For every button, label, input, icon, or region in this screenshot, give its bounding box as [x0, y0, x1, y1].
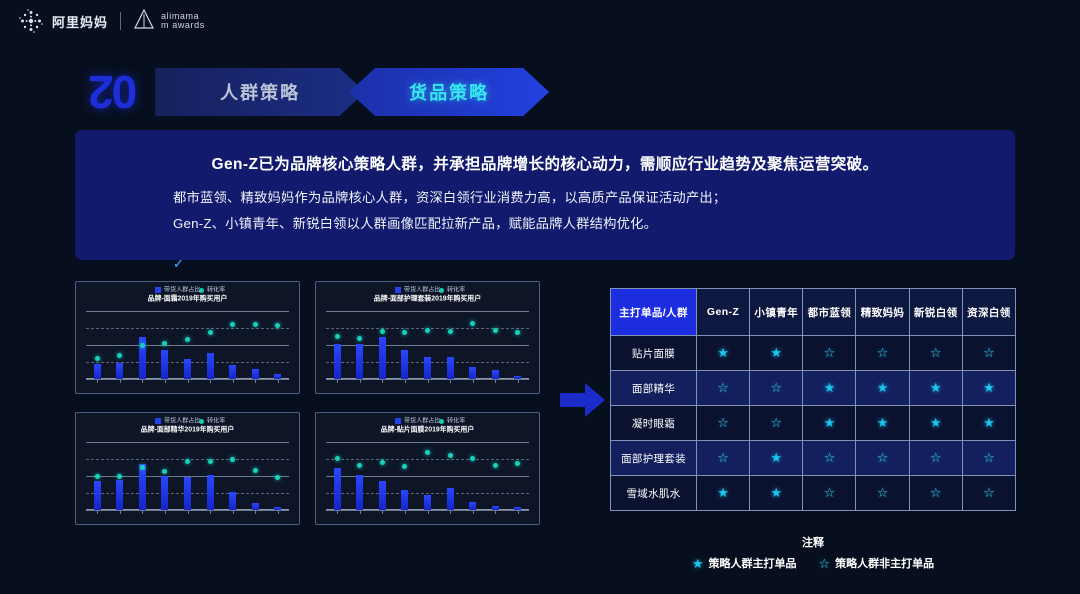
- table-row-label: 贴片面膜: [611, 336, 697, 371]
- chart-dot: [335, 334, 340, 339]
- table-cell: ★: [856, 371, 909, 406]
- star-filled-icon: ★: [877, 416, 889, 429]
- chart-dot: [380, 460, 385, 465]
- star-filled-icon: ★: [770, 486, 782, 499]
- chart-bar: [447, 357, 454, 379]
- star-outline-icon: ☆: [819, 557, 831, 570]
- chart-x-tick: [495, 510, 496, 514]
- chart-x-tick: [120, 510, 121, 514]
- chart-x-tick: [188, 510, 189, 514]
- table-column-header: 精致妈妈: [856, 289, 909, 336]
- table-cell: ★: [909, 371, 962, 406]
- table-cell: ☆: [856, 441, 909, 476]
- chart-x-tick: [360, 379, 361, 383]
- table-cell: ☆: [856, 476, 909, 511]
- table-cell: ☆: [962, 476, 1015, 511]
- tab-product-strategy-label: 货品策略: [409, 79, 489, 105]
- chart-x-tick: [233, 510, 234, 514]
- chart-dot: [402, 464, 407, 469]
- legend-empty-star-label: 策略人群非主打单品: [835, 555, 934, 571]
- chart-bar: [424, 357, 431, 379]
- table-column-header: 都市蓝领: [803, 289, 856, 336]
- chart-dot: [185, 337, 190, 342]
- chart-x-tick: [382, 379, 383, 383]
- chart-bar: [184, 359, 191, 379]
- chart-bar: [184, 477, 191, 510]
- chart-bar: [379, 481, 386, 510]
- table-row-label: 面部护理套装: [611, 441, 697, 476]
- table-cell: ☆: [909, 441, 962, 476]
- legend-empty-star: ☆ 策略人群非主打单品: [819, 555, 935, 571]
- chart-x-tick: [360, 510, 361, 514]
- chart-dot: [425, 450, 430, 455]
- chart-x-tick: [428, 510, 429, 514]
- star-filled-icon: ★: [692, 557, 704, 570]
- chart-x-tick: [188, 379, 189, 383]
- table-cell: ★: [750, 336, 803, 371]
- product-audience-matrix: 主打单品/人群Gen-Z小镇青年都市蓝领精致妈妈新锐白领资深白领 贴片面膜★★☆…: [610, 288, 1016, 511]
- legend-full-star: ★ 策略人群主打单品: [692, 555, 797, 571]
- chart-bar: [401, 350, 408, 379]
- chart-dot: [493, 463, 498, 468]
- chart-gridline: [86, 345, 289, 346]
- chart-dot: [402, 330, 407, 335]
- chart-legend: 带货人群占比转化率: [316, 287, 539, 293]
- legend-dot-label: 转化率: [207, 286, 225, 295]
- star-filled-icon: ★: [983, 416, 995, 429]
- legend-bar-swatch-icon: [155, 418, 161, 424]
- table-column-header: 主打单品/人群: [611, 289, 697, 336]
- table-cell: ★: [803, 371, 856, 406]
- chart-x-tick: [210, 379, 211, 383]
- star-outline-icon: ☆: [824, 486, 836, 499]
- chart-dot: [162, 469, 167, 474]
- chart-x-tick: [473, 379, 474, 383]
- chart-dot: [493, 328, 498, 333]
- chart-x-tick: [255, 379, 256, 383]
- legend-item-bar: 带货人群占比: [395, 418, 429, 424]
- chart-x-tick: [337, 379, 338, 383]
- chart-dot: [208, 459, 213, 464]
- chart-title: 品牌-面部护理套装2019年购买用户: [315, 295, 540, 304]
- table-row: 凝时眼霜☆☆★★★★: [611, 406, 1016, 441]
- check-icon: ✓: [173, 256, 174, 260]
- star-outline-icon: ☆: [824, 346, 836, 359]
- chart-card-2: 带货人群占比转化率品牌-面部精华2019年购买用户: [75, 412, 300, 525]
- chart-x-tick: [278, 510, 279, 514]
- table-cell: ☆: [750, 371, 803, 406]
- chart-card-0: 带货人群占比转化率品牌-面霜2019年购买用户: [75, 281, 300, 394]
- legend-item-dot: 转化率: [439, 418, 460, 424]
- legend-dot-label: 转化率: [447, 417, 465, 426]
- chart-bar: [229, 365, 236, 379]
- star-filled-icon: ★: [877, 381, 889, 394]
- chart-dot: [470, 456, 475, 461]
- chart-bar: [207, 353, 214, 379]
- star-filled-icon: ★: [930, 381, 942, 394]
- chart-bar: [356, 344, 363, 379]
- table-column-header: Gen-Z: [697, 289, 750, 336]
- table-row: 面部精华☆☆★★★★: [611, 371, 1016, 406]
- table-row-label: 雪域水肌水: [611, 476, 697, 511]
- chart-legend: 带货人群占比转化率: [316, 418, 539, 424]
- legend-note: 注释 ★ 策略人群主打单品 ☆ 策略人群非主打单品: [610, 534, 1016, 571]
- legend-dot-label: 转化率: [207, 417, 225, 426]
- chart-gridline: [326, 311, 529, 312]
- summary-bullet-2: ✓ Gen-Z、小镇青年、新锐白领以人群画像匹配拉新产品，赋能品牌人群结构优化。: [115, 216, 975, 233]
- table-column-header: 小镇青年: [750, 289, 803, 336]
- chart-dot: [95, 474, 100, 479]
- summary-panel: Gen-Z已为品牌核心策略人群，并承担品牌增长的核心动力，需顺应行业趋势及聚焦运…: [75, 130, 1015, 260]
- chart-x-tick: [382, 510, 383, 514]
- chart-dot: [117, 353, 122, 358]
- chart-grid: 带货人群占比转化率品牌-面霜2019年购买用户 带货人群占比转化率品牌-面部护理…: [75, 281, 540, 526]
- star-outline-icon: ☆: [770, 381, 782, 394]
- chart-x-tick: [450, 379, 451, 383]
- chart-x-tick: [120, 379, 121, 383]
- chart-title: 品牌-面霜2019年购买用户: [75, 295, 300, 304]
- table-row-label: 凝时眼霜: [611, 406, 697, 441]
- star-outline-icon: ☆: [983, 451, 995, 464]
- chart-x-tick: [142, 379, 143, 383]
- chart-legend: 带货人群占比转化率: [76, 287, 299, 293]
- chart-dot: [95, 356, 100, 361]
- star-filled-icon: ★: [770, 346, 782, 359]
- chart-bar: [469, 367, 476, 379]
- chart-bar: [469, 502, 476, 510]
- legend-item-dot: 转化率: [199, 287, 220, 293]
- legend-item-bar: 带货人群占比: [155, 418, 189, 424]
- chart-dot: [357, 463, 362, 468]
- chart-bar: [94, 364, 101, 379]
- table-cell: ★: [856, 406, 909, 441]
- table-cell: ★: [697, 476, 750, 511]
- chart-x-tick: [337, 510, 338, 514]
- table-row-label: 面部精华: [611, 371, 697, 406]
- table-cell: ☆: [697, 371, 750, 406]
- legend-bar-label: 带货人群占比: [164, 417, 200, 426]
- summary-bullet-1: ✓ 都市蓝领、精致妈妈作为品牌核心人群，资深白领行业消费力高，以高质产品保证活动…: [115, 190, 975, 207]
- chart-x-tick: [473, 510, 474, 514]
- chart-plot-area: [86, 442, 289, 510]
- legend-bar-label: 带货人群占比: [164, 286, 200, 295]
- chart-x-tick: [255, 510, 256, 514]
- tab-product-strategy[interactable]: 货品策略: [349, 68, 549, 116]
- table-cell: ★: [750, 476, 803, 511]
- chart-x-tick: [405, 379, 406, 383]
- brand-bar: 阿里妈妈 alimama m awards: [0, 0, 1080, 42]
- chart-bar: [116, 363, 123, 379]
- legend-bar-swatch-icon: [395, 418, 401, 424]
- star-filled-icon: ★: [824, 416, 836, 429]
- star-outline-icon: ☆: [770, 416, 782, 429]
- star-outline-icon: ☆: [930, 486, 942, 499]
- chart-bar: [447, 488, 454, 510]
- legend-note-title: 注释: [610, 534, 1016, 550]
- legend-bar-label: 带货人群占比: [404, 286, 440, 295]
- right-arrow-icon: [560, 382, 606, 418]
- table-cell: ★: [962, 371, 1015, 406]
- awards-line-2: m awards: [161, 21, 205, 30]
- chart-dot: [185, 459, 190, 464]
- star-outline-icon: ☆: [717, 451, 729, 464]
- chart-bar: [207, 475, 214, 510]
- alimama-starburst-icon: [18, 8, 44, 34]
- table-body: 贴片面膜★★☆☆☆☆面部精华☆☆★★★★凝时眼霜☆☆★★★★面部护理套装☆★☆☆…: [611, 336, 1016, 511]
- star-outline-icon: ☆: [930, 451, 942, 464]
- chart-dot: [448, 453, 453, 458]
- chart-plot-area: [326, 311, 529, 379]
- triangle-icon: [133, 8, 155, 35]
- star-filled-icon: ★: [717, 486, 729, 499]
- tab-people-strategy-label: 人群策略: [220, 79, 300, 105]
- chart-x-tick: [428, 379, 429, 383]
- chart-dot: [253, 322, 258, 327]
- chart-x-tick: [142, 510, 143, 514]
- chart-x-tick: [450, 510, 451, 514]
- chart-title: 品牌-面部精华2019年购买用户: [75, 426, 300, 435]
- star-outline-icon: ☆: [717, 416, 729, 429]
- table-cell: ☆: [697, 441, 750, 476]
- chart-dot: [425, 328, 430, 333]
- chart-dot: [470, 321, 475, 326]
- table-cell: ☆: [909, 476, 962, 511]
- table-row: 贴片面膜★★☆☆☆☆: [611, 336, 1016, 371]
- legend-full-star-label: 策略人群主打单品: [709, 555, 797, 571]
- chart-dot: [335, 456, 340, 461]
- summary-headline: Gen-Z已为品牌核心策略人群，并承担品牌增长的核心动力，需顺应行业趋势及聚焦运…: [115, 152, 975, 174]
- chart-dot: [380, 329, 385, 334]
- chart-gridline: [326, 459, 529, 461]
- star-outline-icon: ☆: [824, 451, 836, 464]
- chart-plot-area: [86, 311, 289, 379]
- table-column-header: 新锐白领: [909, 289, 962, 336]
- chart-bar: [379, 337, 386, 379]
- step-number: 02: [90, 69, 137, 115]
- chart-x-tick: [165, 510, 166, 514]
- chart-x-tick: [210, 510, 211, 514]
- chart-dot: [515, 330, 520, 335]
- chart-dot: [230, 322, 235, 327]
- chart-bar: [492, 370, 499, 379]
- star-filled-icon: ★: [824, 381, 836, 394]
- star-filled-icon: ★: [930, 416, 942, 429]
- chart-bar: [334, 344, 341, 379]
- legend-item-dot: 转化率: [199, 418, 220, 424]
- table-header-row: 主打单品/人群Gen-Z小镇青年都市蓝领精致妈妈新锐白领资深白领: [611, 289, 1016, 336]
- chart-gridline: [86, 328, 289, 330]
- table-cell: ★: [962, 406, 1015, 441]
- chart-legend: 带货人群占比转化率: [76, 418, 299, 424]
- chart-dot: [275, 475, 280, 480]
- chart-gridline: [86, 442, 289, 443]
- chart-dot: [140, 343, 145, 348]
- chart-plot-area: [326, 442, 529, 510]
- tab-people-strategy[interactable]: 人群策略: [155, 68, 365, 116]
- chart-title: 品牌-贴片面膜2019年购买用户: [315, 426, 540, 435]
- legend-bar-swatch-icon: [395, 287, 401, 293]
- chart-dot: [117, 474, 122, 479]
- table-cell: ☆: [750, 406, 803, 441]
- chart-x-tick: [278, 379, 279, 383]
- star-filled-icon: ★: [983, 381, 995, 394]
- chart-bar: [252, 369, 259, 379]
- chart-dot: [208, 330, 213, 335]
- chart-bar: [139, 464, 146, 510]
- chart-dot: [357, 336, 362, 341]
- star-outline-icon: ☆: [983, 346, 995, 359]
- chart-x-tick: [518, 379, 519, 383]
- chart-bar: [229, 492, 236, 510]
- awards-logo: alimama m awards: [133, 8, 205, 35]
- table-cell: ☆: [962, 441, 1015, 476]
- star-outline-icon: ☆: [877, 451, 889, 464]
- chart-bar: [161, 350, 168, 379]
- table-cell: ☆: [909, 336, 962, 371]
- table-column-header: 资深白领: [962, 289, 1015, 336]
- table-cell: ☆: [697, 406, 750, 441]
- section-tabs: 02 人群策略 货品策略: [90, 68, 549, 116]
- table-cell: ☆: [803, 441, 856, 476]
- chart-dot: [230, 457, 235, 462]
- table-cell: ★: [697, 336, 750, 371]
- chart-x-tick: [405, 510, 406, 514]
- chart-dot: [448, 329, 453, 334]
- star-outline-icon: ☆: [877, 486, 889, 499]
- table-cell: ☆: [803, 476, 856, 511]
- chart-bar: [356, 475, 363, 510]
- table-cell: ★: [909, 406, 962, 441]
- chart-bar: [161, 476, 168, 510]
- table-row: 面部护理套装☆★☆☆☆☆: [611, 441, 1016, 476]
- star-outline-icon: ☆: [930, 346, 942, 359]
- chart-card-1: 带货人群占比转化率品牌-面部护理套装2019年购买用户: [315, 281, 540, 394]
- summary-bullet-1-text: 都市蓝领、精致妈妈作为品牌核心人群，资深白领行业消费力高，以高质产品保证活动产出…: [173, 190, 726, 207]
- star-outline-icon: ☆: [983, 486, 995, 499]
- chart-x-tick: [495, 379, 496, 383]
- legend-item-bar: 带货人群占比: [395, 287, 429, 293]
- summary-bullet-2-text: Gen-Z、小镇青年、新锐白领以人群画像匹配拉新产品，赋能品牌人群结构优化。: [173, 216, 657, 233]
- chart-bar: [401, 490, 408, 510]
- chart-card-3: 带货人群占比转化率品牌-贴片面膜2019年购买用户: [315, 412, 540, 525]
- brand-divider: [120, 12, 121, 30]
- brand-name: 阿里妈妈: [52, 12, 108, 31]
- table-cell: ☆: [803, 336, 856, 371]
- chart-x-tick: [165, 379, 166, 383]
- chart-dot: [515, 461, 520, 466]
- table-row: 雪域水肌水★★☆☆☆☆: [611, 476, 1016, 511]
- legend-bar-swatch-icon: [155, 287, 161, 293]
- chart-bar: [334, 468, 341, 510]
- star-outline-icon: ☆: [877, 346, 889, 359]
- chart-bar: [94, 481, 101, 510]
- table-cell: ☆: [856, 336, 909, 371]
- chart-gridline: [86, 311, 289, 312]
- star-filled-icon: ★: [770, 451, 782, 464]
- chart-x-tick: [518, 510, 519, 514]
- chart-bar: [424, 495, 431, 510]
- legend-item-dot: 转化率: [439, 287, 460, 293]
- chart-gridline: [326, 442, 529, 443]
- star-filled-icon: ★: [717, 346, 729, 359]
- chart-dot: [253, 468, 258, 473]
- table-cell: ★: [803, 406, 856, 441]
- table-cell: ★: [750, 441, 803, 476]
- legend-bar-label: 带货人群占比: [404, 417, 440, 426]
- chart-x-tick: [97, 510, 98, 514]
- chart-x-tick: [233, 379, 234, 383]
- star-outline-icon: ☆: [717, 381, 729, 394]
- legend-item-bar: 带货人群占比: [155, 287, 189, 293]
- legend-dot-label: 转化率: [447, 286, 465, 295]
- chart-bar: [252, 503, 259, 510]
- table-cell: ☆: [962, 336, 1015, 371]
- chart-bar: [116, 480, 123, 510]
- chart-x-tick: [97, 379, 98, 383]
